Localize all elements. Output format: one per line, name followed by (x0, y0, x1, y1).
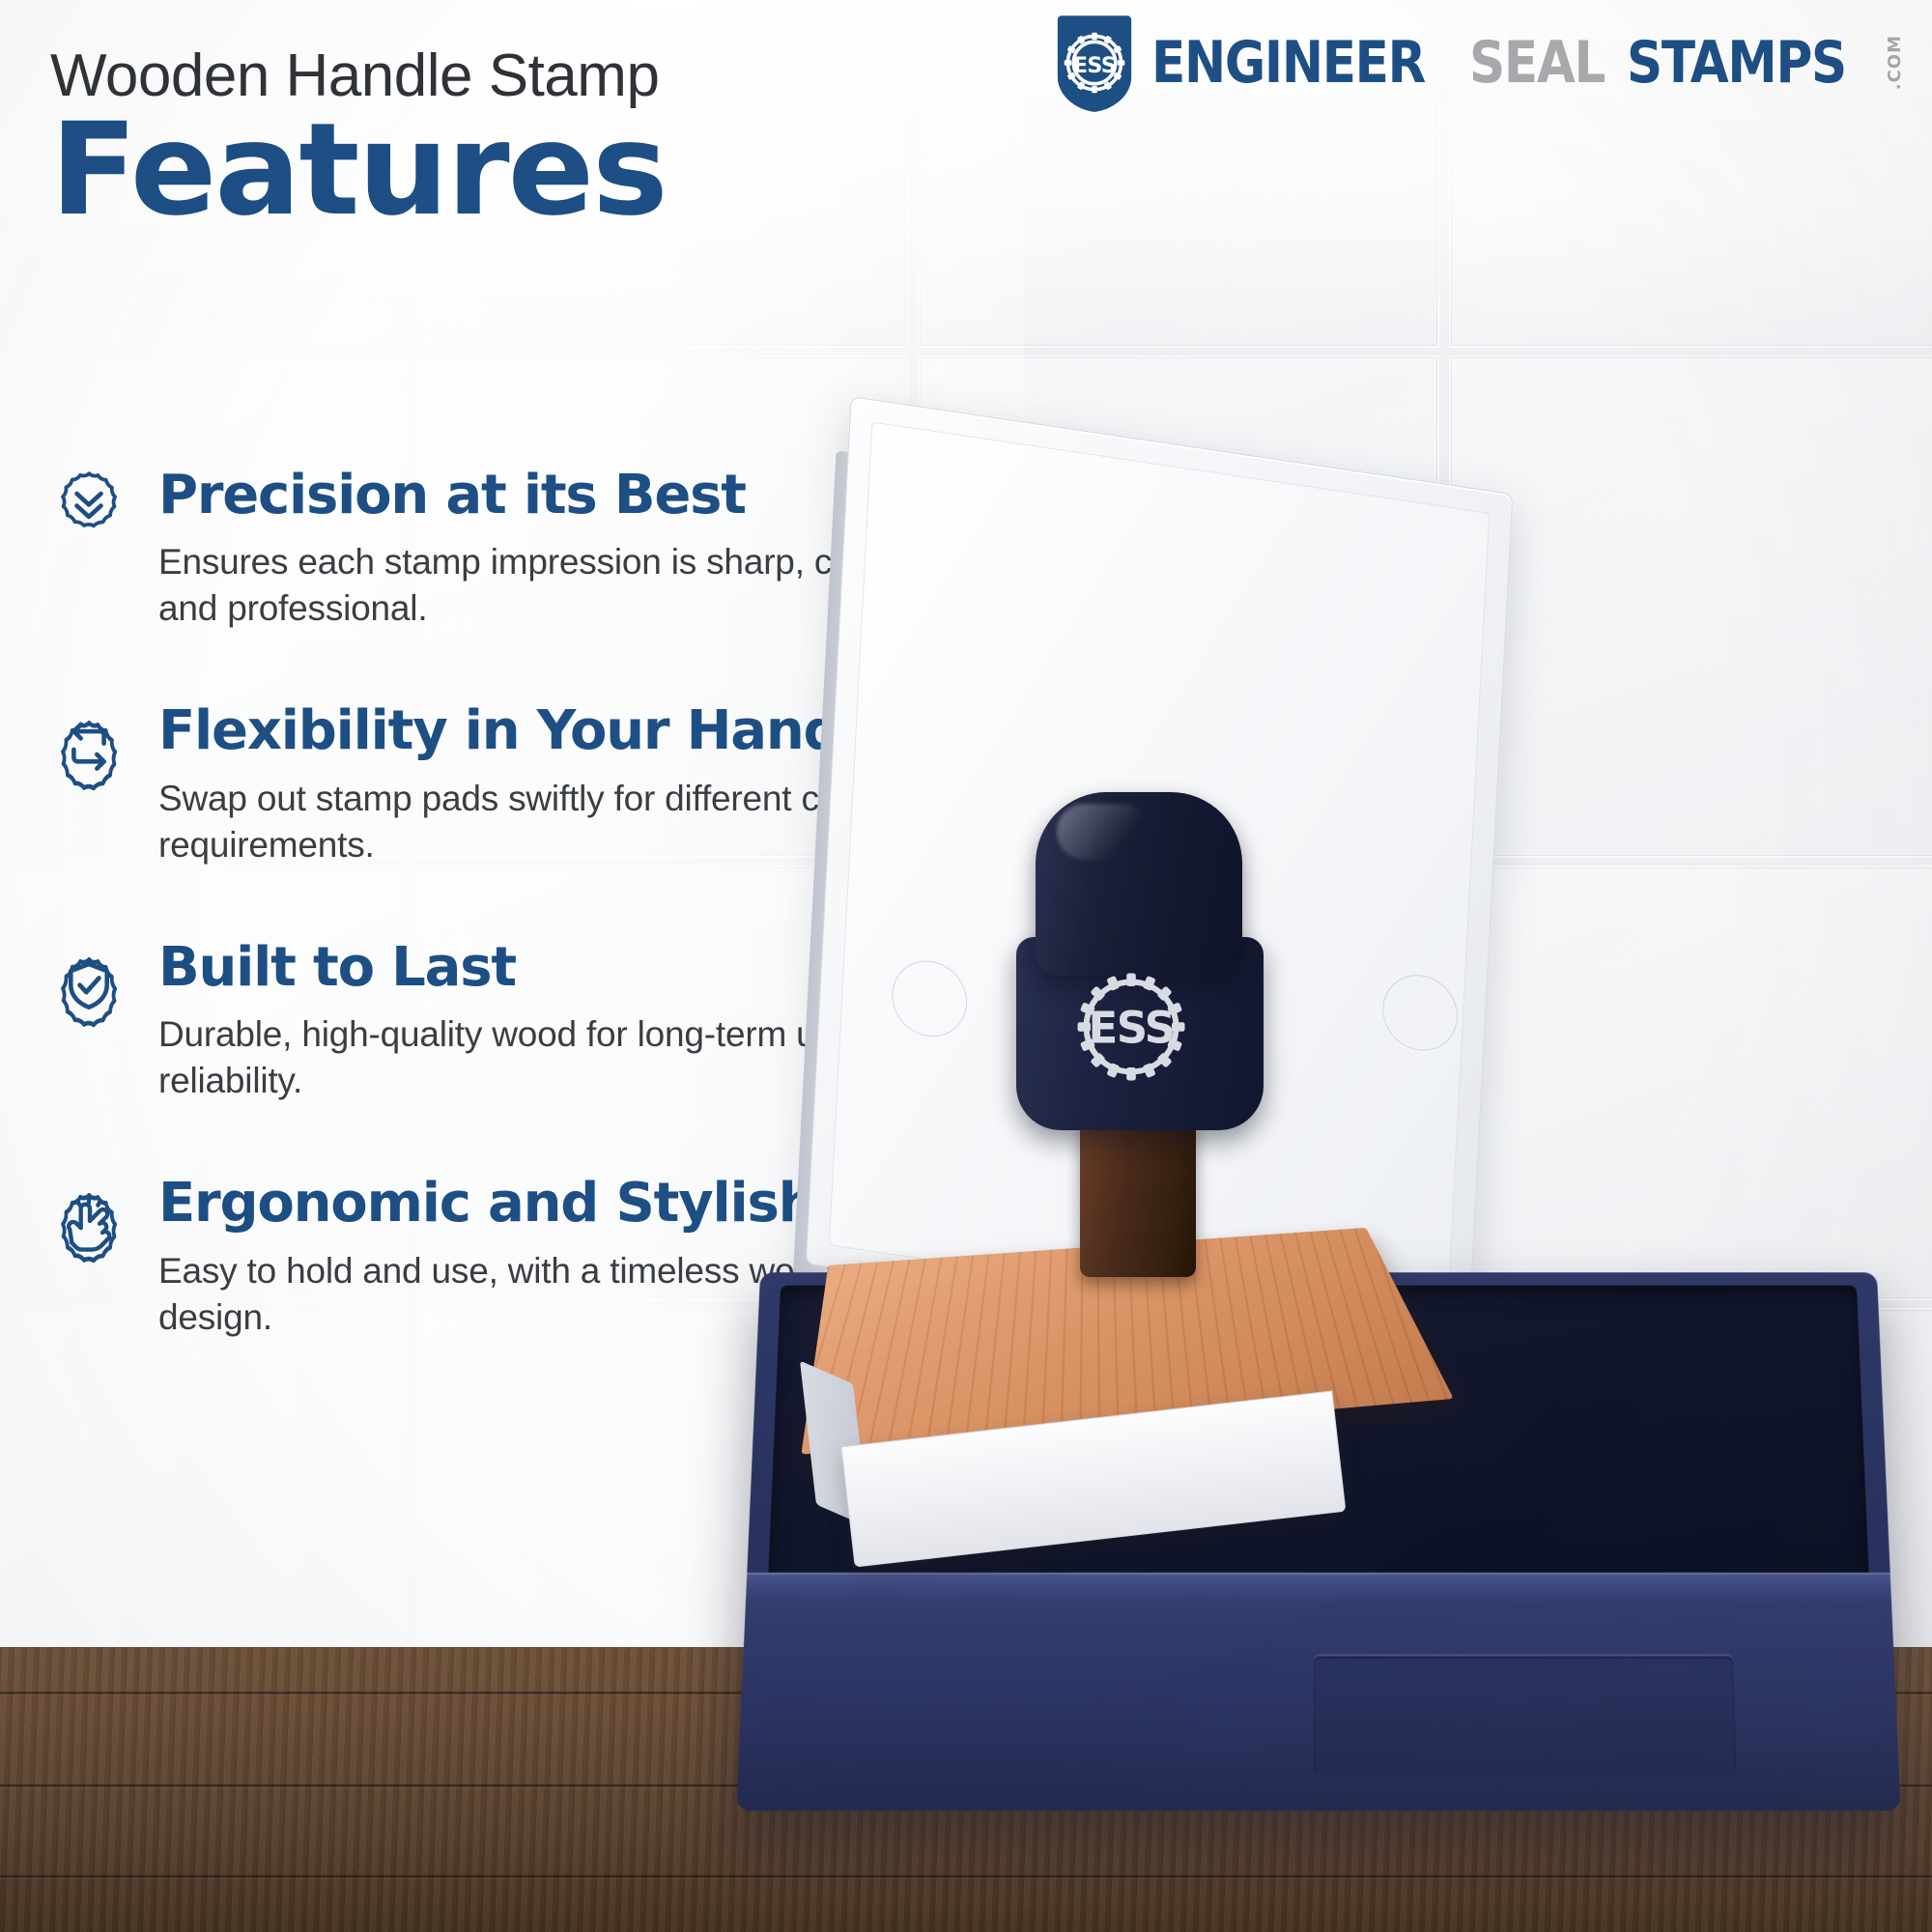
feature-text: Flexibility in Your Hands Swap out stamp… (147, 697, 931, 867)
badge-pointing-hand-icon (39, 1170, 147, 1340)
wooden-handle-stamp: ESS (869, 792, 1449, 1546)
brand-word-engineer: ENGINEER (1151, 34, 1425, 92)
badge-shield-check-icon (39, 934, 147, 1104)
stamp-emblem-text: ESS (1088, 1003, 1174, 1054)
brand-word-seal: SEAL (1469, 34, 1605, 92)
brand-tld: .COM (1885, 35, 1905, 90)
brand-wordmark: ENGINEER SEAL STAMPS .COM (1151, 34, 1905, 92)
badge-double-chevron-down-icon (39, 462, 147, 632)
box-front-notch (1314, 1656, 1737, 1775)
feature-description: Ensures each stamp impression is sharp, … (158, 539, 931, 632)
feature-text: Precision at its Best Ensures each stamp… (147, 462, 931, 632)
brand-word-stamps: STAMPS (1627, 34, 1846, 92)
badge-swap-arrows-icon (39, 697, 147, 867)
page-title-block: Wooden Handle Stamp Features (50, 44, 1016, 229)
stamp-handle-knob (1036, 792, 1242, 976)
stamp-ess-gear-icon: ESS (1059, 954, 1204, 1099)
infographic-canvas: Wooden Handle Stamp Features (0, 0, 1932, 1932)
knob-highlight (1057, 804, 1150, 860)
feature-title: Precision at its Best (158, 468, 931, 524)
product-photo: ESS (927, 502, 1932, 1932)
page-title: Features (50, 112, 1016, 229)
gear-shield-icon: ESS (1043, 12, 1146, 114)
svg-text:ESS: ESS (1073, 53, 1116, 78)
feature-title: Flexibility in Your Hands (158, 703, 931, 759)
brand-logo[interactable]: ESS ENGINEER SEAL STAMPS .COM (1043, 12, 1905, 114)
